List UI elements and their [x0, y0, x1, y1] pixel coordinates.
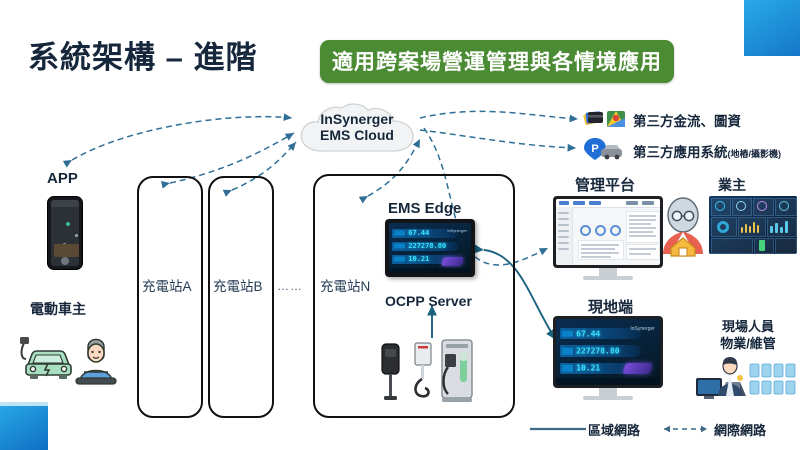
local-monitor-bezel: 67.44 227278.80 10.21 InSynerger — [553, 316, 663, 388]
mobile-phone-icon[interactable] — [47, 196, 83, 270]
corner-accent-top-right — [744, 0, 800, 56]
ems-cloud-node[interactable]: InSynerger EMS Cloud — [296, 103, 418, 155]
station-ellipsis: …… — [277, 279, 303, 293]
corner-accent-strip — [0, 402, 48, 406]
ocpp-server-label: OCPP Server — [385, 293, 472, 309]
station-box-b[interactable] — [208, 176, 274, 418]
local-readout-2: 227278.80 — [576, 347, 619, 356]
local-end-screen: 67.44 227278.80 10.21 InSynerger — [556, 319, 660, 385]
ems-edge-label: EMS Edge — [388, 200, 461, 217]
station-label-b: 充電站B — [213, 275, 263, 295]
legend-lan-label: 區域網路 — [588, 420, 640, 439]
site-staff-label: 現場人員 物業/維管 — [700, 318, 796, 352]
station-label-a: 充電站A — [142, 275, 192, 295]
third-party-application-label: 第三方應用系統 — [633, 145, 728, 160]
station-label-n: 充電站N — [320, 275, 370, 295]
management-platform-monitor[interactable] — [553, 196, 663, 268]
owner-person-icon — [659, 196, 707, 258]
ems-readout-1: 67.44 — [408, 229, 429, 237]
site-staff-icon — [694, 352, 798, 404]
third-party-application-row: P 第三方應用系統(地樁/攝影機) — [583, 137, 798, 163]
local-brand-mark: InSynerger — [630, 326, 654, 332]
cloud-label-line2: EMS Cloud — [296, 127, 418, 143]
parking-and-camera-icon: P — [583, 137, 627, 161]
page-title: 系統架構 – 進階 — [28, 32, 257, 77]
local-end-label: 現地端 — [588, 296, 633, 317]
ev-charger-icons — [378, 330, 488, 406]
monitor-bezel — [553, 196, 663, 268]
third-party-payment-map-label: 第三方金流、圖資 — [633, 110, 741, 130]
ems-readout-3: 10.21 — [408, 255, 429, 263]
site-staff-label-line2: 物業/維管 — [700, 335, 796, 352]
ems-edge-screen: 67.44 227278.80 10.21 InSynerger — [389, 223, 471, 273]
management-platform-label: 管理平台 — [575, 174, 635, 195]
station-box-a[interactable] — [137, 176, 203, 418]
diagram-canvas: 系統架構 – 進階 適用跨案場營運管理與各情境應用 InSynerger EMS… — [0, 0, 800, 450]
site-staff-label-line1: 現場人員 — [700, 318, 796, 335]
third-party-application-sublabel: (地樁/攝影機) — [728, 149, 782, 159]
ems-brand-mark: InSynerger — [447, 228, 467, 233]
local-car-graphic — [622, 363, 652, 374]
legend-wan-label: 網際網路 — [714, 420, 766, 439]
local-readout-1: 67.44 — [576, 329, 600, 338]
ems-readout-2: 227278.80 — [408, 242, 446, 250]
ev-owner-label: 電動車主 — [30, 299, 86, 319]
owner-label: 業主 — [718, 175, 746, 195]
payment-cards-and-map-icon — [583, 108, 627, 130]
app-label: APP — [47, 170, 78, 187]
third-party-application-label-wrap: 第三方應用系統(地樁/攝影機) — [633, 141, 781, 162]
cloud-label-line1: InSynerger — [296, 111, 418, 127]
svg-text:P: P — [591, 143, 598, 155]
ems-car-graphic — [441, 257, 465, 266]
local-end-monitor[interactable]: 67.44 227278.80 10.21 InSynerger — [553, 316, 663, 388]
third-party-payment-map-row: 第三方金流、圖資 — [583, 108, 798, 132]
corner-accent-bottom-left — [0, 402, 48, 450]
owner-dashboard-screen[interactable] — [709, 196, 797, 254]
cloud-label: InSynerger EMS Cloud — [296, 111, 418, 143]
phone-map-screen — [51, 200, 79, 266]
ev-owner-icon — [18, 325, 130, 387]
legend: 區域網路 網際網路 — [528, 418, 782, 440]
ems-edge-device[interactable]: 67.44 227278.80 10.21 InSynerger — [385, 219, 475, 277]
subtitle-badge: 適用跨案場營運管理與各情境應用 — [320, 40, 674, 83]
local-readout-3: 10.21 — [576, 364, 600, 373]
management-platform-screen — [556, 199, 660, 265]
